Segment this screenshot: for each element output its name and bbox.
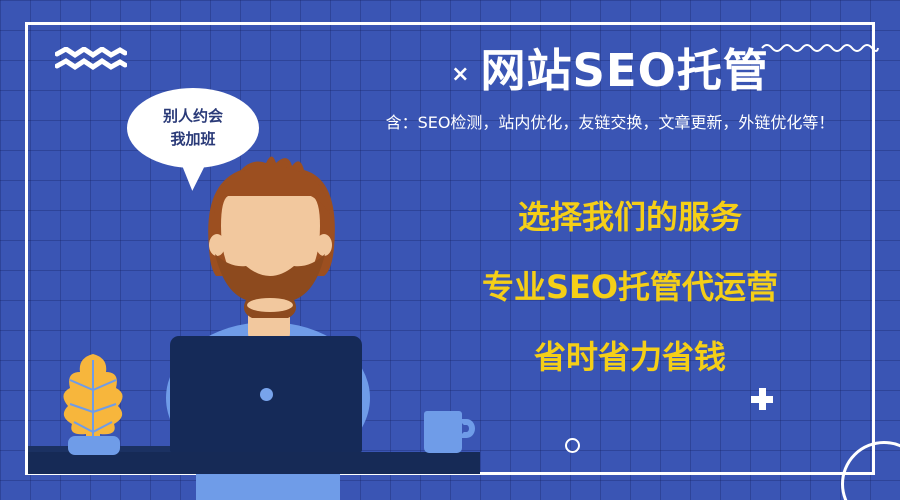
seo-hosting-banner: ×网站SEO托管 含：SEO检测，站内优化，友链交换，文章更新，外链优化等！ 选… xyxy=(0,0,900,500)
desk-surface xyxy=(28,452,480,474)
potted-plant xyxy=(48,350,138,455)
coffee-mug xyxy=(424,411,462,453)
ear-left-shape xyxy=(209,234,225,256)
laptop-logo-dot-icon xyxy=(260,388,273,401)
ear-right-shape xyxy=(316,234,332,256)
mouth-shape xyxy=(247,298,293,312)
plant-pot-shape xyxy=(68,436,120,455)
